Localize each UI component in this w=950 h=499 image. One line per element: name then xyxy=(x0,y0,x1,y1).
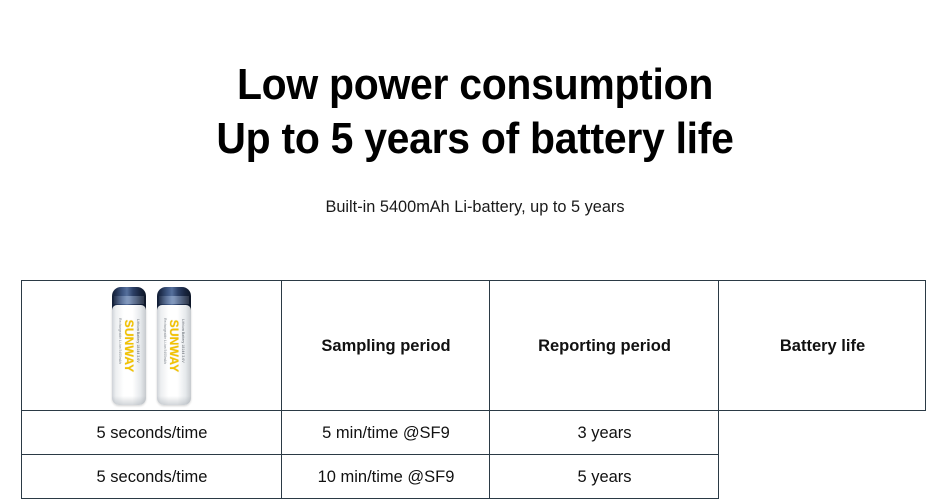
cell-battery-life-row2: 5 years xyxy=(493,455,715,499)
table-row: 5 seconds/time 5 min/time @SF9 3 years xyxy=(22,411,926,455)
cell-sampling-period-row2: 5 seconds/time xyxy=(25,455,277,499)
battery-icon-2: Lithium Battery 18144 3.6V Rechargeable … xyxy=(157,287,191,405)
cell-battery-life-row1: 3 years xyxy=(493,411,715,455)
battery-image-cell: Lithium Battery 18144 3.6V Rechargeable … xyxy=(22,281,282,411)
battery-icon-1: Lithium Battery 18144 3.6V Rechargeable … xyxy=(112,287,146,405)
battery-brand-label-1: SUNWAY xyxy=(122,319,136,372)
column-header-battery-life: Battery life xyxy=(722,281,923,411)
battery-image-group: Lithium Battery 18144 3.6V Rechargeable … xyxy=(22,281,281,410)
table-row: 5 seconds/time 10 min/time @SF9 5 years xyxy=(22,455,926,499)
page-title: Low power consumption Up to 5 years of b… xyxy=(0,58,950,166)
column-header-sampling-period: Sampling period xyxy=(285,281,487,411)
cell-reporting-period-row2: 10 min/time @SF9 xyxy=(285,455,487,499)
battery-spec-text-1: Lithium Battery 18144 3.6V xyxy=(136,319,140,363)
headline-line-1: Low power consumption xyxy=(33,58,917,112)
subtitle: Built-in 5400mAh Li-battery, up to 5 yea… xyxy=(19,196,931,218)
battery-life-table: Lithium Battery 18144 3.6V Rechargeable … xyxy=(21,280,926,499)
cell-reporting-period-row1: 5 min/time @SF9 xyxy=(285,411,487,455)
battery-spec-text-2: Lithium Battery 18144 3.6V xyxy=(181,319,185,363)
cell-sampling-period-row1: 5 seconds/time xyxy=(25,411,277,455)
table-header-row: Lithium Battery 18144 3.6V Rechargeable … xyxy=(22,281,926,411)
column-header-reporting-period: Reporting period xyxy=(493,281,715,411)
battery-brand-label-2: SUNWAY xyxy=(167,319,181,372)
headline-line-2: Up to 5 years of battery life xyxy=(33,112,917,166)
promo-slide: Low power consumption Up to 5 years of b… xyxy=(0,0,950,468)
